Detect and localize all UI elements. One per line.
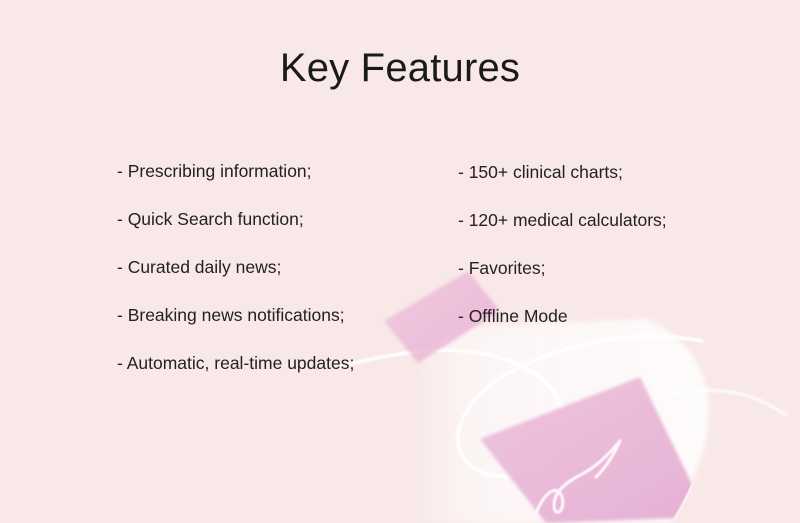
- feature-item: - Favorites;: [458, 257, 758, 279]
- feature-item: - Curated daily news;: [117, 256, 437, 278]
- feature-item: - Automatic, real-time updates;: [117, 352, 437, 374]
- feature-item: - 120+ medical calculators;: [458, 209, 758, 231]
- feature-columns: - Prescribing information; - Quick Searc…: [0, 160, 800, 410]
- slide-canvas: Key Features - Prescribing information; …: [0, 0, 800, 523]
- page-title: Key Features: [0, 44, 800, 92]
- feature-item: - 150+ clinical charts;: [458, 161, 758, 183]
- feature-item: - Prescribing information;: [117, 160, 437, 182]
- feature-item: - Breaking news notifications;: [117, 304, 437, 326]
- feature-item: - Offline Mode: [458, 305, 758, 327]
- label-script: [536, 441, 620, 513]
- feature-list-right: - 150+ clinical charts; - 120+ medical c…: [458, 161, 758, 353]
- feature-item: - Quick Search function;: [117, 208, 437, 230]
- feature-list-left: - Prescribing information; - Quick Searc…: [117, 160, 437, 400]
